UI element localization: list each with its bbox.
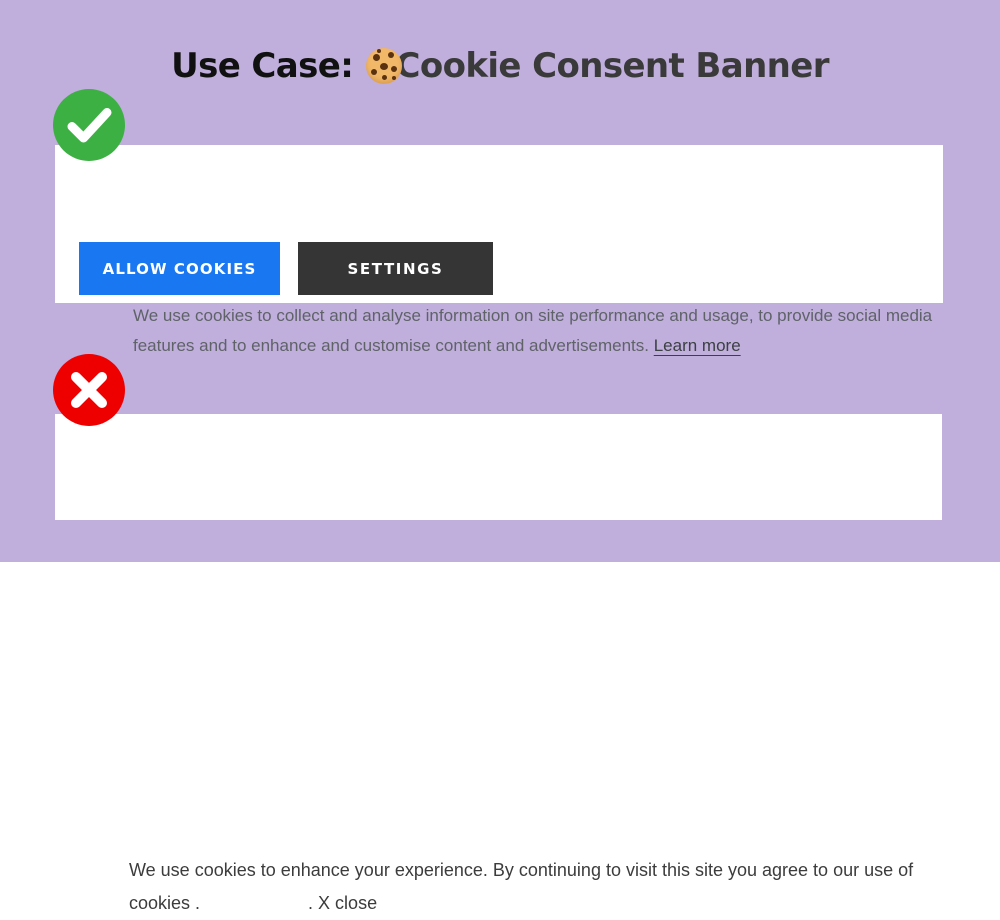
page-title: Use Case: Cookie Consent Banner xyxy=(0,46,1000,86)
bad-cookie-banner: We use cookies to enhance your experienc… xyxy=(55,414,942,520)
check-icon xyxy=(53,89,125,161)
good-banner-body: We use cookies to collect and analyse in… xyxy=(133,306,932,355)
bad-banner-body: We use cookies to enhance your experienc… xyxy=(129,860,913,913)
good-banner-text: We use cookies to collect and analyse in… xyxy=(133,301,978,361)
cookie-emoji xyxy=(366,48,402,84)
page-title-rest: Cookie Consent Banner xyxy=(395,46,828,86)
settings-button[interactable]: SETTINGS xyxy=(298,242,493,295)
slide-canvas: Use Case: Cookie Consent Banner We use c… xyxy=(0,0,1000,562)
allow-cookies-button[interactable]: ALLOW COOKIES xyxy=(79,242,280,295)
page-title-lead: Use Case: xyxy=(171,46,364,86)
bad-banner-close-text[interactable]: . X close xyxy=(308,893,377,913)
bad-banner-text: We use cookies to enhance your experienc… xyxy=(129,854,974,920)
learn-more-link[interactable]: Learn more xyxy=(654,336,741,355)
cross-icon xyxy=(53,354,125,426)
